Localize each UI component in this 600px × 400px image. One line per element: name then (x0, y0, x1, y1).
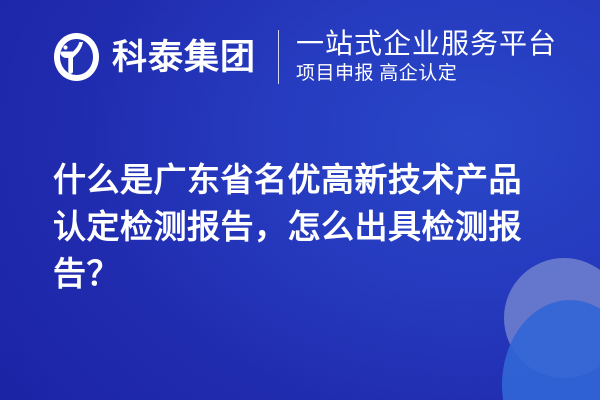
banner-header: 科泰集团 一站式企业服务平台 项目申报 高企认定 (0, 0, 600, 115)
ketai-circular-logo-icon (53, 32, 100, 82)
promo-banner: 科泰集团 一站式企业服务平台 项目申报 高企认定 什么是广东省名优高新技术产品认… (0, 0, 600, 400)
brand-lockup[interactable]: 科泰集团 一站式企业服务平台 项目申报 高企认定 (53, 28, 557, 87)
blue-circle-decoration (502, 300, 600, 400)
article-title-block: 什么是广东省名优高新技术产品认定检测报告，怎么出具检测报告？ (53, 157, 553, 298)
article-title: 什么是广东省名优高新技术产品认定检测报告，怎么出具检测报告？ (53, 157, 553, 298)
tagline-secondary: 项目申报 高企认定 (296, 62, 557, 87)
brand-name: 科泰集团 (112, 40, 256, 75)
tagline-primary: 一站式企业服务平台 (296, 28, 557, 59)
brand-divider (278, 30, 279, 84)
tagline-group: 一站式企业服务平台 项目申报 高企认定 (296, 28, 557, 87)
